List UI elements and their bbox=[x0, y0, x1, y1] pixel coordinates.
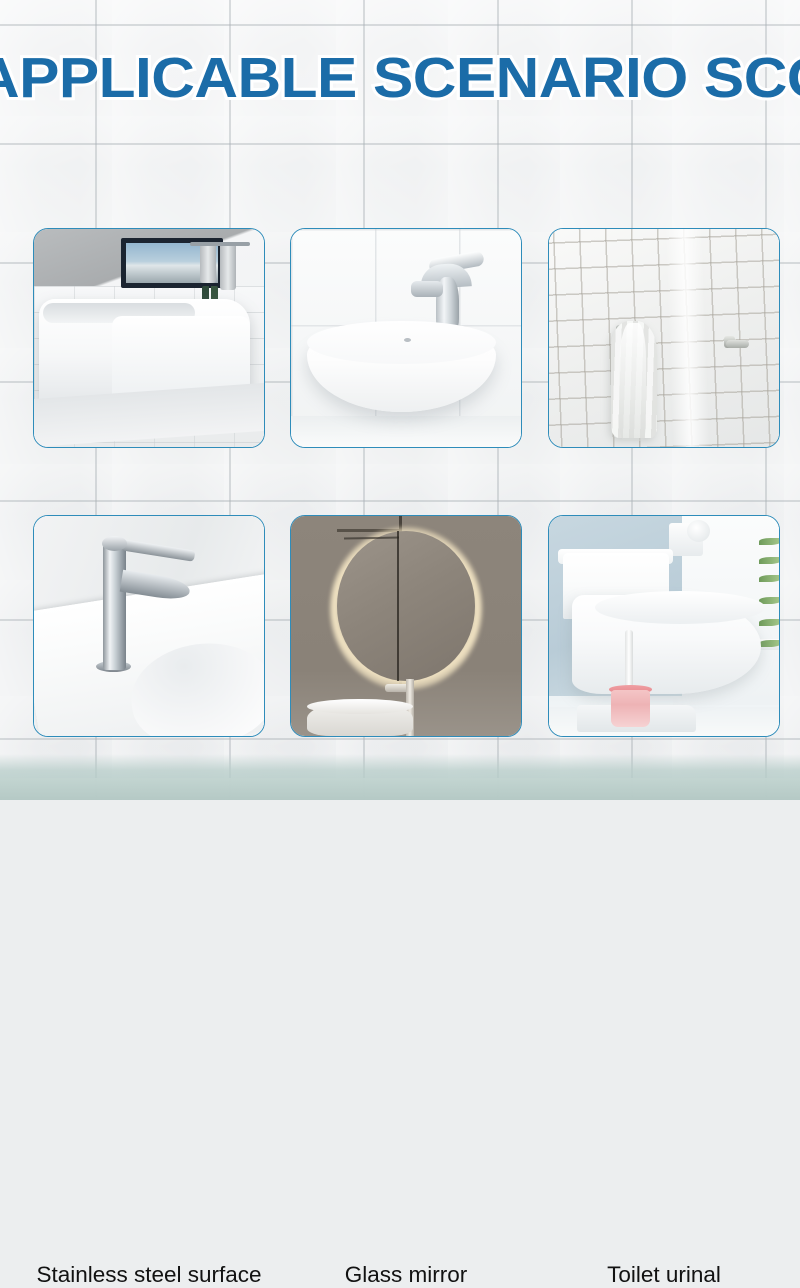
square-tile-grid bbox=[548, 228, 780, 448]
scenario-label-stainless-steel: Stainless steel surface bbox=[9, 1262, 289, 1288]
toilet-scene-art bbox=[549, 516, 779, 736]
sink-scene-art bbox=[291, 229, 521, 447]
toilet-brush-holder bbox=[611, 690, 650, 727]
vessel-sink-rim bbox=[307, 321, 496, 365]
plant-leaf bbox=[759, 619, 780, 626]
scenario-grid: Bathtub tubs Toilet sink countertop bbox=[0, 0, 800, 800]
faucet-stem bbox=[103, 542, 126, 670]
sink-overflow-hole bbox=[404, 338, 411, 342]
plant-leaf bbox=[759, 640, 780, 647]
hanging-towel bbox=[200, 246, 216, 283]
countertop bbox=[291, 416, 521, 447]
plant-leaf bbox=[759, 557, 780, 564]
faucet-spout bbox=[411, 281, 443, 296]
wall-tiles-scene-art bbox=[549, 229, 779, 447]
glass-mirror-scene-art bbox=[291, 516, 521, 736]
hanging-towel bbox=[220, 246, 236, 290]
round-mirror bbox=[337, 531, 475, 681]
scenario-photo-sink-countertop[interactable] bbox=[290, 228, 522, 448]
toilet-seat bbox=[595, 591, 765, 624]
scenario-label-toilet: Toilet urinal bbox=[524, 1262, 800, 1288]
scenario-photo-toilet[interactable] bbox=[548, 515, 780, 737]
plant-leaf bbox=[759, 575, 780, 582]
bathtub-scene-art bbox=[34, 229, 264, 447]
hanging-towel bbox=[611, 321, 657, 439]
scenario-photo-stainless-steel[interactable] bbox=[33, 515, 265, 737]
scenario-photo-wall-tiles[interactable] bbox=[548, 228, 780, 448]
scenario-label-glass-mirror: Glass mirror bbox=[266, 1262, 546, 1288]
stainless-steel-scene-art bbox=[34, 516, 264, 736]
mirror-reflection-seam bbox=[397, 531, 399, 681]
tile-highlight bbox=[664, 228, 709, 448]
toilet-brush-handle bbox=[625, 630, 633, 687]
scenario-photo-bathtub[interactable] bbox=[33, 228, 265, 448]
vessel-sink-rim bbox=[307, 699, 413, 714]
wall-hook bbox=[726, 340, 749, 348]
towel-fold bbox=[619, 323, 646, 441]
plant-leaf bbox=[759, 538, 780, 545]
scenario-photo-glass-mirror[interactable] bbox=[290, 515, 522, 737]
